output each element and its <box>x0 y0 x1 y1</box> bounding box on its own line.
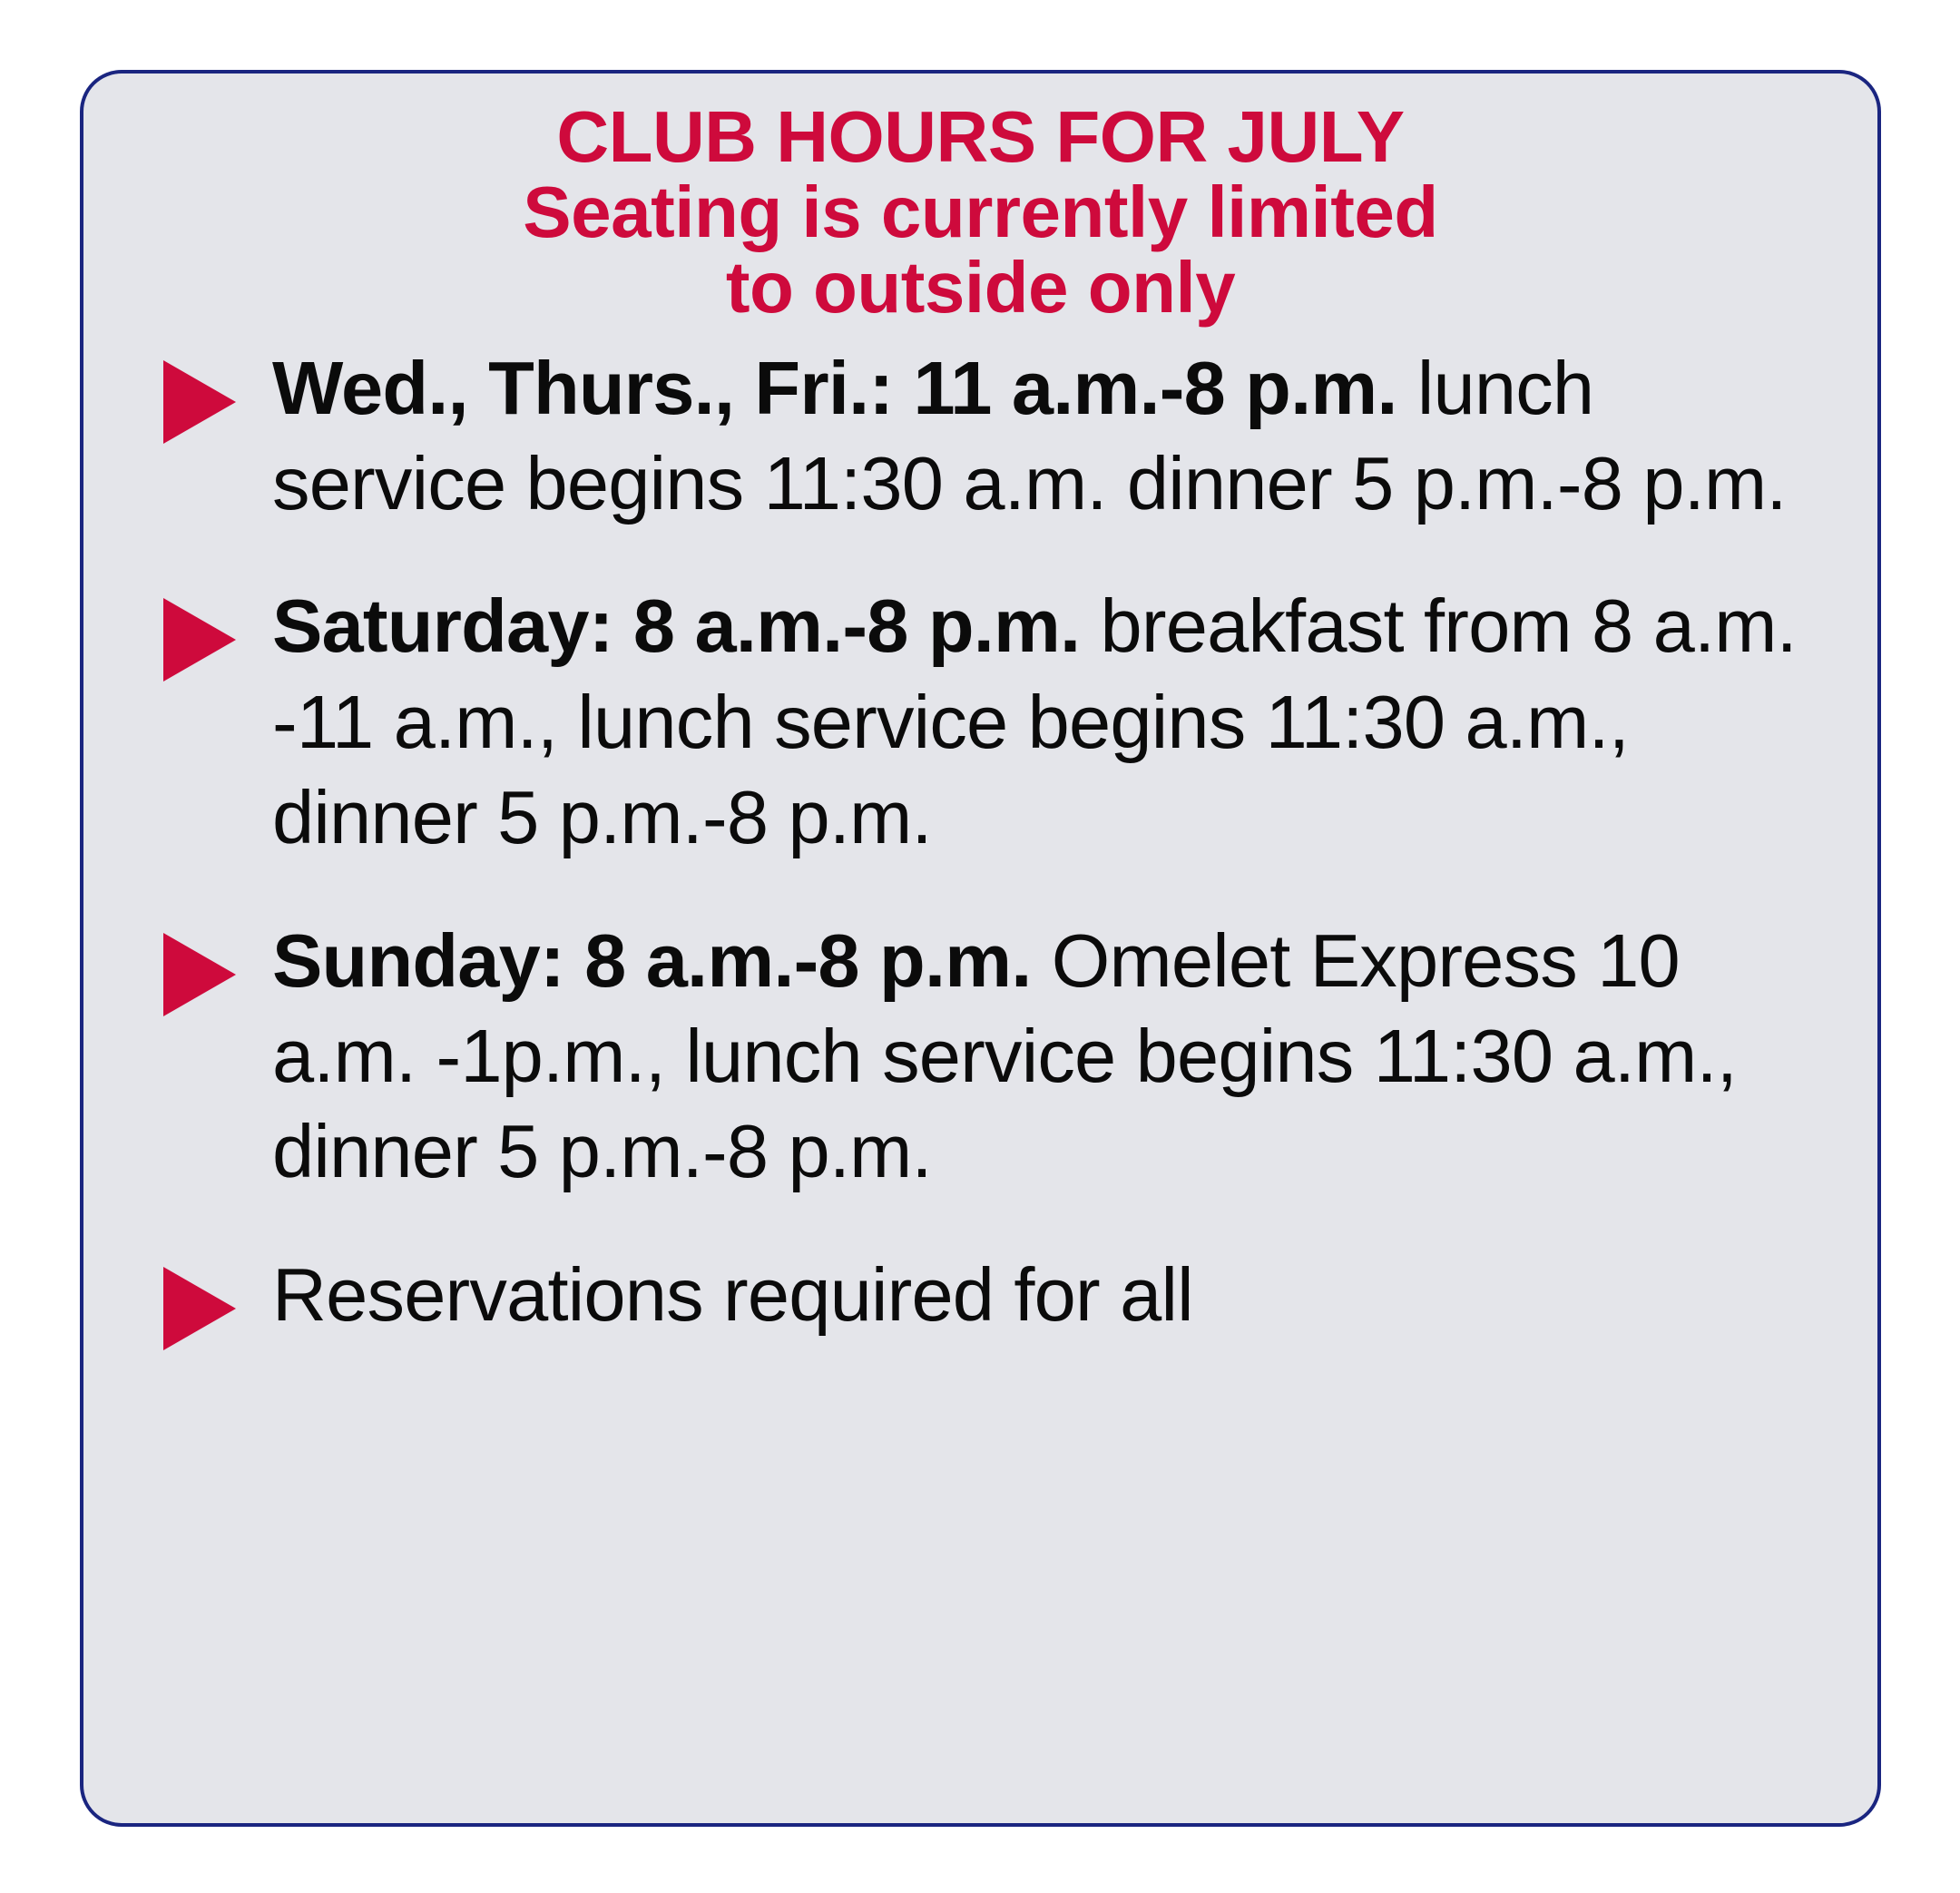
hours-item-wed-thurs-fri: Wed., Thurs., Fri.: 11 a.m.-8 p.m. lunch… <box>163 340 1830 532</box>
triangle-right-icon <box>163 1267 236 1350</box>
hours-item-text: Wed., Thurs., Fri.: 11 a.m.-8 p.m. lunch… <box>272 340 1830 532</box>
triangle-right-icon <box>163 360 236 444</box>
hours-item-text: Reservations required for all <box>272 1247 1830 1342</box>
club-hours-card: CLUB HOURS FOR JULY Seating is currently… <box>80 70 1881 1827</box>
hours-item-reservations: Reservations required for all <box>163 1247 1830 1342</box>
triangle-right-icon <box>163 933 236 1016</box>
hours-list: Wed., Thurs., Fri.: 11 a.m.-8 p.m. lunch… <box>83 326 1877 1343</box>
hours-item-text: Saturday: 8 a.m.-8 p.m. breakfast from 8… <box>272 578 1830 865</box>
hours-item-detail: Reservations required for all <box>272 1252 1193 1337</box>
hours-item-lead: Sunday: 8 a.m.-8 p.m. <box>272 918 1031 1003</box>
page-root: CLUB HOURS FOR JULY Seating is currently… <box>0 0 1960 1893</box>
hours-item-saturday: Saturday: 8 a.m.-8 p.m. breakfast from 8… <box>163 578 1830 865</box>
title-line-3: to outside only <box>120 250 1841 325</box>
title-line-2: Seating is currently limited <box>120 174 1841 250</box>
hours-item-lead: Saturday: 8 a.m.-8 p.m. <box>272 584 1080 668</box>
hours-item-text: Sunday: 8 a.m.-8 p.m. Omelet Express 10 … <box>272 913 1830 1200</box>
hours-item-lead: Wed., Thurs., Fri.: 11 a.m.-8 p.m. <box>272 346 1397 430</box>
title-line-1: CLUB HOURS FOR JULY <box>120 99 1841 174</box>
card-title-block: CLUB HOURS FOR JULY Seating is currently… <box>83 74 1877 326</box>
hours-item-sunday: Sunday: 8 a.m.-8 p.m. Omelet Express 10 … <box>163 913 1830 1200</box>
triangle-right-icon <box>163 598 236 682</box>
